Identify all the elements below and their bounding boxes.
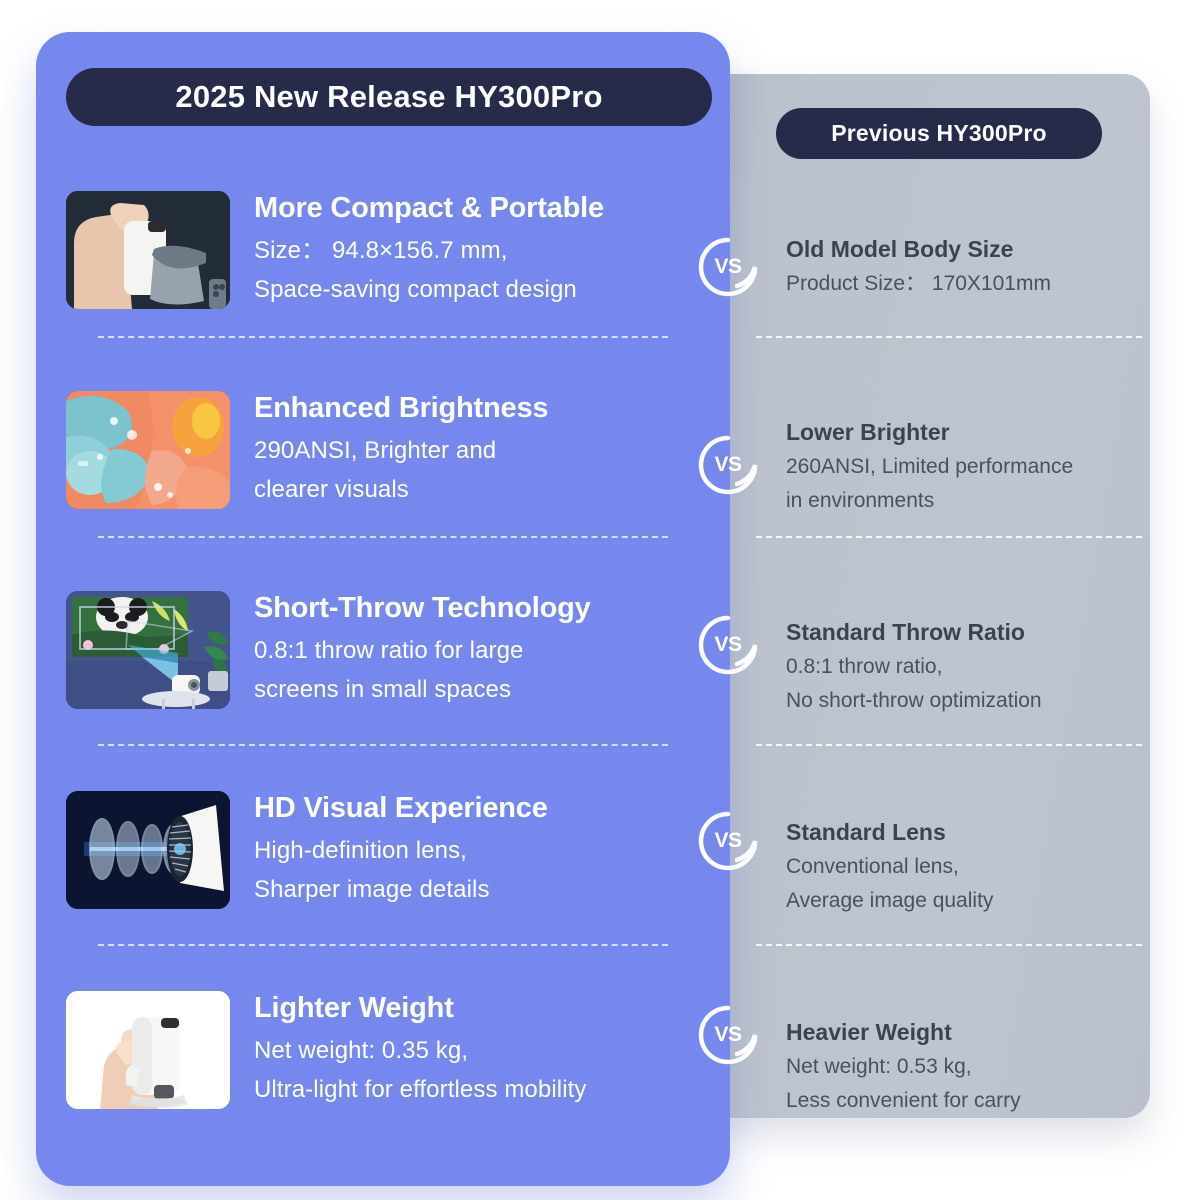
new-feature-text: Enhanced Brightness 290ANSI, Brighter an… xyxy=(248,390,704,509)
new-feature-line-2: screens in small spaces xyxy=(254,671,704,710)
vs-label: VS xyxy=(697,614,759,676)
previous-feature-line-2: in environments xyxy=(786,484,1128,518)
new-feature-title: Short-Throw Technology xyxy=(254,590,704,627)
new-feature-title: Enhanced Brightness xyxy=(254,390,704,427)
previous-panel-divider xyxy=(756,744,1142,746)
previous-feature-line-1: Conventional lens, xyxy=(786,850,1128,884)
comparison-infographic: 2025 New Release HY300Pro Previous HY300… xyxy=(0,0,1200,1200)
previous-feature-line-2: Less convenient for carry xyxy=(786,1084,1128,1118)
vs-label: VS xyxy=(697,1004,759,1066)
vs-badge: VS xyxy=(697,236,759,298)
previous-feature-line-1: Net weight: 0.53 kg, xyxy=(786,1050,1128,1084)
new-feature-line-1: Net weight: 0.35 kg, xyxy=(254,1032,704,1071)
new-feature-row: Enhanced Brightness 290ANSI, Brighter an… xyxy=(36,350,730,550)
new-feature-line-2: Sharper image details xyxy=(254,871,704,910)
feature-thumbnail-short-throw xyxy=(66,591,230,709)
new-panel-divider xyxy=(98,944,668,946)
new-feature-title: Lighter Weight xyxy=(254,990,704,1027)
new-feature-line-2: clearer visuals xyxy=(254,471,704,510)
vs-badge: VS xyxy=(697,434,759,496)
previous-feature-line-2: Average image quality xyxy=(786,884,1128,918)
vs-badge: VS xyxy=(697,810,759,872)
feature-thumbnail-compact-portable xyxy=(66,191,230,309)
previous-feature-line-2: No short-throw optimization xyxy=(786,684,1128,718)
new-feature-text: HD Visual Experience High-definition len… xyxy=(248,790,704,909)
previous-model-header-label: Previous HY300Pro xyxy=(831,120,1047,147)
new-feature-title: HD Visual Experience xyxy=(254,790,704,827)
new-feature-line-1: 290ANSI, Brighter and xyxy=(254,432,704,471)
new-panel-divider xyxy=(98,744,668,746)
new-feature-line-2: Space-saving compact design xyxy=(254,271,704,310)
previous-panel-divider xyxy=(756,336,1142,338)
previous-panel-divider xyxy=(756,944,1142,946)
new-feature-row: HD Visual Experience High-definition len… xyxy=(36,750,730,950)
new-feature-text: Short-Throw Technology 0.8:1 throw ratio… xyxy=(248,590,704,709)
previous-feature-line-1: 0.8:1 throw ratio, xyxy=(786,650,1128,684)
new-feature-row: More Compact & Portable Size： 94.8×156.7… xyxy=(36,150,730,350)
feature-thumbnail-hd-lens xyxy=(66,791,230,909)
new-feature-line-2: Ultra-light for effortless mobility xyxy=(254,1071,704,1110)
new-feature-text: More Compact & Portable Size： 94.8×156.7… xyxy=(248,190,704,309)
new-feature-text: Lighter Weight Net weight: 0.35 kg, Ultr… xyxy=(248,990,704,1109)
previous-feature-text: Heavier Weight Net weight: 0.53 kg, Less… xyxy=(786,1018,1128,1119)
vs-label: VS xyxy=(697,810,759,872)
previous-feature-text: Old Model Body Size Product Size： 170X10… xyxy=(786,235,1128,302)
new-model-header-pill: 2025 New Release HY300Pro xyxy=(66,68,712,126)
previous-feature-title: Standard Throw Ratio xyxy=(786,618,1128,648)
vs-badge: VS xyxy=(697,614,759,676)
new-feature-line-1: Size： 94.8×156.7 mm, xyxy=(254,232,704,271)
vs-label: VS xyxy=(697,434,759,496)
previous-feature-title: Lower Brighter xyxy=(786,418,1128,448)
previous-model-header-pill: Previous HY300Pro xyxy=(776,108,1102,159)
previous-feature-text: Standard Throw Ratio 0.8:1 throw ratio, … xyxy=(786,618,1128,719)
previous-panel-divider xyxy=(756,536,1142,538)
new-feature-line-1: High-definition lens, xyxy=(254,832,704,871)
previous-feature-title: Standard Lens xyxy=(786,818,1128,848)
new-feature-title: More Compact & Portable xyxy=(254,190,704,227)
feature-thumbnail-enhanced-brightness xyxy=(66,391,230,509)
previous-feature-text: Standard Lens Conventional lens, Average… xyxy=(786,818,1128,919)
vs-badge: VS xyxy=(697,1004,759,1066)
previous-feature-text: Lower Brighter 260ANSI, Limited performa… xyxy=(786,418,1128,519)
previous-feature-title: Heavier Weight xyxy=(786,1018,1128,1048)
previous-feature-line-1: 260ANSI, Limited performance xyxy=(786,450,1128,484)
vs-label: VS xyxy=(697,236,759,298)
new-panel-divider xyxy=(98,336,668,338)
new-feature-row: Lighter Weight Net weight: 0.35 kg, Ultr… xyxy=(36,950,730,1150)
new-model-header-label: 2025 New Release HY300Pro xyxy=(175,79,602,115)
previous-feature-line-1: Product Size： 170X101mm xyxy=(786,267,1128,301)
previous-feature-title: Old Model Body Size xyxy=(786,235,1128,265)
new-feature-line-1: 0.8:1 throw ratio for large xyxy=(254,632,704,671)
new-panel-divider xyxy=(98,536,668,538)
feature-thumbnail-lighter-weight xyxy=(66,991,230,1109)
new-feature-row: Short-Throw Technology 0.8:1 throw ratio… xyxy=(36,550,730,750)
new-model-feature-list: More Compact & Portable Size： 94.8×156.7… xyxy=(36,150,730,1150)
